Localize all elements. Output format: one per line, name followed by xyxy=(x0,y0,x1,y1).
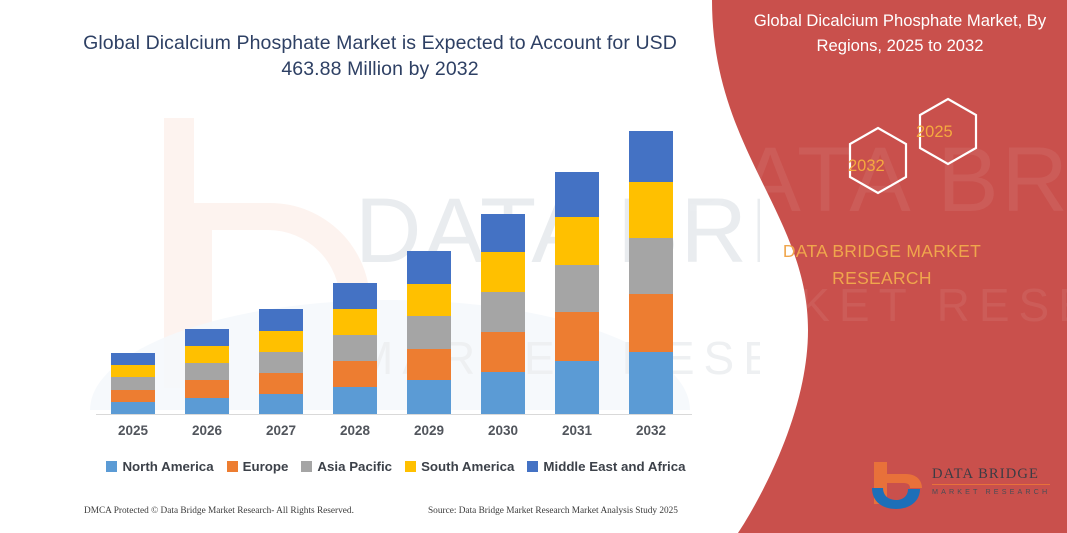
footer-copyright: DMCA Protected © Data Bridge Market Rese… xyxy=(84,506,354,516)
bar-segment xyxy=(333,361,377,386)
x-axis-tick-label: 2031 xyxy=(547,423,607,438)
x-axis-tick-label: 2032 xyxy=(621,423,681,438)
bar-segment xyxy=(481,372,525,415)
bar-segment xyxy=(481,332,525,373)
bar-segment xyxy=(111,365,155,377)
page-title: Global Dicalcium Phosphate Market is Exp… xyxy=(60,30,700,82)
bar-segment xyxy=(111,390,155,402)
bar-segment xyxy=(629,294,673,352)
bar-segment xyxy=(185,346,229,363)
footer-source: Source: Data Bridge Market Research Mark… xyxy=(428,506,678,516)
bar-stack xyxy=(259,309,303,415)
side-panel: DATA BRIDGE MARKET RESEARCH Global Dical… xyxy=(690,0,1067,533)
bar-segment xyxy=(185,363,229,380)
bar-segment xyxy=(407,251,451,284)
bar-segment xyxy=(629,238,673,294)
bar-segment xyxy=(259,373,303,393)
bar-segment xyxy=(407,349,451,381)
bar-segment xyxy=(629,352,673,415)
legend-swatch xyxy=(106,461,117,472)
legend-swatch xyxy=(301,461,312,472)
legend-label: Europe xyxy=(243,459,289,474)
chart-legend: North AmericaEuropeAsia PacificSouth Ame… xyxy=(96,455,696,477)
bar-segment xyxy=(481,252,525,292)
bar-segment xyxy=(185,380,229,397)
bar-segment xyxy=(259,309,303,330)
bar-segment xyxy=(333,387,377,415)
infographic-root: DATA BRIDGE MARKET RESEARCH Global Dical… xyxy=(0,0,1067,533)
bar-segment xyxy=(555,312,599,361)
bar-segment xyxy=(629,131,673,182)
legend-swatch xyxy=(405,461,416,472)
x-axis-tick-label: 2025 xyxy=(103,423,163,438)
bar-segment xyxy=(407,316,451,349)
legend-label: Middle East and Africa xyxy=(543,459,685,474)
bar-segment xyxy=(407,380,451,415)
bar-segment xyxy=(111,353,155,365)
bar-segment xyxy=(259,331,303,352)
hexagon-outline-icon xyxy=(820,95,1020,205)
hexagon-group: 2032 2025 xyxy=(820,95,1020,205)
bar-segment xyxy=(333,309,377,334)
bar-stack xyxy=(555,172,599,415)
bar-stack xyxy=(185,329,229,415)
legend-item[interactable]: South America xyxy=(405,459,514,474)
bar-stack xyxy=(629,131,673,415)
bar-segment xyxy=(333,283,377,309)
bar-segment xyxy=(555,172,599,217)
panel-brand-text: DATA BRIDGE MARKET RESEARCH xyxy=(732,238,1032,292)
bar-segment xyxy=(185,329,229,346)
legend-item[interactable]: Asia Pacific xyxy=(301,459,392,474)
legend-swatch xyxy=(227,461,238,472)
bar-segment xyxy=(259,352,303,373)
legend-label: South America xyxy=(421,459,514,474)
bar-segment xyxy=(185,398,229,415)
legend-label: Asia Pacific xyxy=(317,459,392,474)
x-axis-line xyxy=(96,414,692,415)
hexagon-label-start-year: 2032 xyxy=(848,157,885,176)
legend-item[interactable]: Europe xyxy=(227,459,289,474)
bar-segment xyxy=(555,361,599,415)
bar-stack xyxy=(407,251,451,415)
bar-segment xyxy=(111,377,155,389)
logo-subtitle: MARKET RESEARCH xyxy=(932,487,1058,497)
legend-item[interactable]: Middle East and Africa xyxy=(527,459,685,474)
chart-panel: DATA BRIDGE MARKET RESEARCH Global Dical… xyxy=(0,0,760,533)
x-axis-tick-label: 2027 xyxy=(251,423,311,438)
bar-segment xyxy=(333,335,377,361)
bar-segment xyxy=(555,217,599,265)
logo-divider xyxy=(932,484,1050,485)
x-axis-tick-label: 2030 xyxy=(473,423,533,438)
logo-text: DATA BRIDGE MARKET RESEARCH xyxy=(932,466,1058,497)
x-axis-tick-label: 2028 xyxy=(325,423,385,438)
panel-title: Global Dicalcium Phosphate Market, By Re… xyxy=(742,8,1058,58)
bar-segment xyxy=(555,265,599,313)
bar-stack xyxy=(333,283,377,415)
bar-stack xyxy=(481,214,525,415)
logo-title: DATA BRIDGE xyxy=(932,466,1058,483)
data-bridge-logo-icon xyxy=(870,460,926,510)
x-axis-tick-label: 2026 xyxy=(177,423,237,438)
side-panel-content: Global Dicalcium Phosphate Market, By Re… xyxy=(690,0,1067,533)
hexagon-label-end-year: 2025 xyxy=(916,123,953,142)
bar-stack xyxy=(111,353,155,415)
bar-segment xyxy=(481,292,525,332)
bar-segment xyxy=(629,182,673,238)
footer: DMCA Protected © Data Bridge Market Rese… xyxy=(0,506,735,528)
legend-item[interactable]: North America xyxy=(106,459,213,474)
bar-segment xyxy=(481,214,525,253)
brand-logo: DATA BRIDGE MARKET RESEARCH xyxy=(870,458,1060,514)
bar-chart-plot xyxy=(96,110,688,415)
bar-segment xyxy=(407,284,451,317)
legend-swatch xyxy=(527,461,538,472)
bar-segment xyxy=(259,394,303,415)
legend-label: North America xyxy=(122,459,213,474)
x-axis-tick-label: 2029 xyxy=(399,423,459,438)
x-axis-labels: 20252026202720282029203020312032 xyxy=(96,423,688,445)
